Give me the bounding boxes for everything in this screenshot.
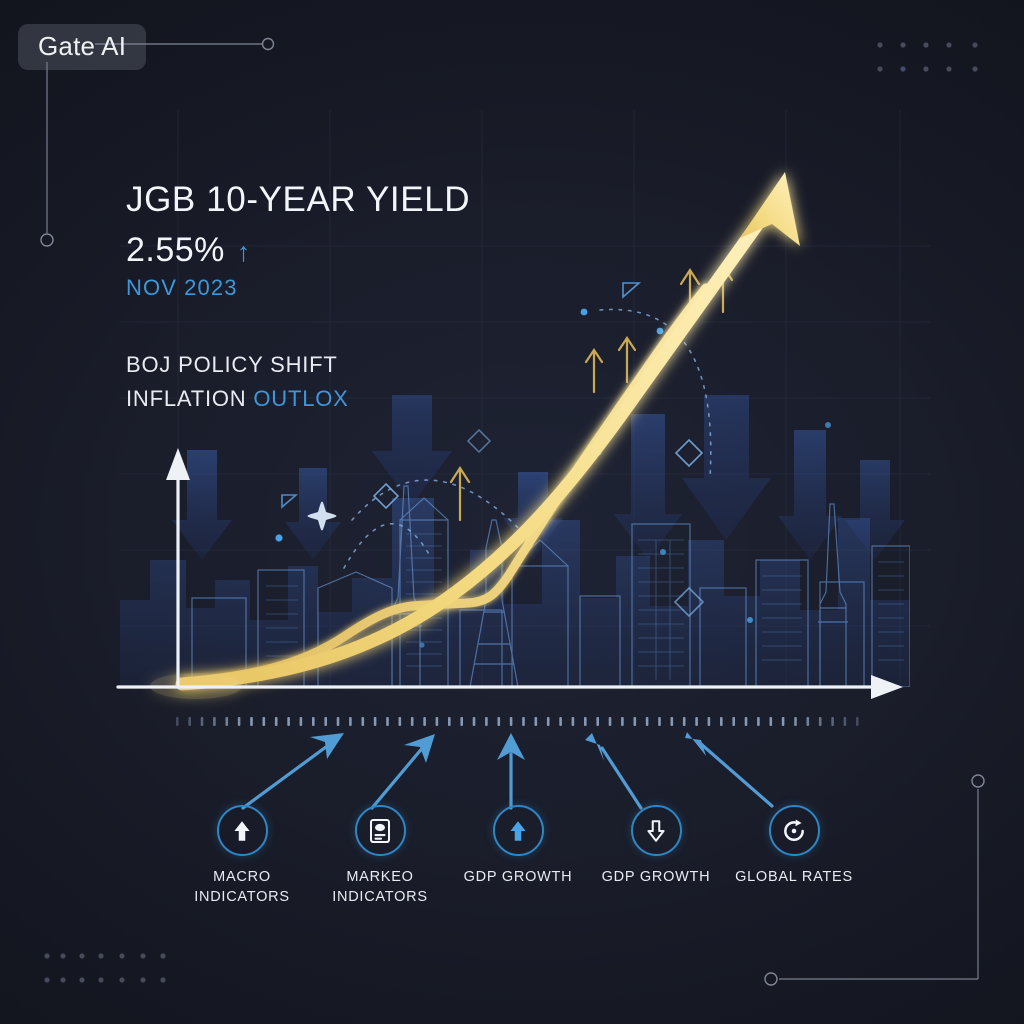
x-axis-tick: [460, 717, 463, 726]
legend-item-label-line2: INDICATORS: [332, 889, 428, 905]
legend-connector-5: [685, 732, 772, 806]
subheadline-line-2-highlight: OUTLOX: [253, 386, 348, 411]
x-axis-tick: [535, 717, 538, 726]
legend-item[interactable]: GDP GROWTH: [592, 805, 720, 888]
x-axis-tick: [362, 717, 365, 726]
x-axis-tick: [337, 717, 340, 726]
legend-item-label: GLOBAL RATES: [735, 868, 853, 888]
x-axis-tick: [572, 717, 575, 726]
x-axis-tick: [609, 717, 612, 726]
x-axis-tick: [671, 717, 674, 726]
x-axis-tick: [522, 717, 525, 726]
subheadline-block: BOJ POLICY SHIFT INFLATION OUTLOX: [126, 348, 349, 416]
x-axis-tick: [732, 717, 735, 726]
x-axis-tick: [473, 717, 476, 726]
report-document-icon[interactable]: [355, 805, 406, 856]
x-axis-tick: [844, 717, 847, 726]
legend-item-label: MARKEOINDICATORS: [332, 868, 428, 907]
x-axis-tick: [250, 717, 253, 726]
x-axis-tick: [324, 717, 327, 726]
x-axis-tick: [510, 717, 513, 726]
x-axis-tick: [423, 717, 426, 726]
x-axis-tick: [213, 717, 216, 726]
x-axis-tick: [176, 717, 179, 726]
legend-item[interactable]: GDP GROWTH: [454, 805, 582, 888]
page-title: JGB 10-YEAR YIELD: [126, 182, 470, 219]
legend-connector-arrows: [243, 732, 772, 808]
x-axis-tick: [634, 717, 637, 726]
x-axis-tick: [226, 717, 229, 726]
x-axis-tick: [770, 717, 773, 726]
legend-row: MACROINDICATORSMARKEOINDICATORSGDP GROWT…: [178, 805, 858, 907]
x-axis-tick: [782, 717, 785, 726]
x-axis-tick: [485, 717, 488, 726]
refresh-timer-icon[interactable]: [769, 805, 820, 856]
legend-item-label: GDP GROWTH: [464, 868, 573, 888]
x-axis-tick: [411, 717, 414, 726]
subheadline-line-2: INFLATION OUTLOX: [126, 382, 349, 416]
x-axis-tick-row: [176, 717, 859, 726]
legend-connector-4: [585, 733, 641, 808]
x-axis-tick: [300, 717, 303, 726]
x-axis-tick: [287, 717, 290, 726]
legend-item[interactable]: MARKEOINDICATORS: [316, 805, 444, 907]
x-axis-tick: [646, 717, 649, 726]
x-axis-tick: [695, 717, 698, 726]
x-axis-tick: [757, 717, 760, 726]
x-axis-tick: [831, 717, 834, 726]
x-axis-tick: [856, 717, 859, 726]
legend-item-label-line2: INDICATORS: [194, 889, 290, 905]
headline-block: JGB 10-YEAR YIELD 2.55% ↑ NOV 2023: [126, 182, 470, 299]
legend-connector-1: [243, 733, 344, 808]
x-axis-tick: [238, 717, 241, 726]
brand-badge: Gate AI: [18, 24, 146, 70]
legend-connector-2: [372, 734, 435, 808]
x-axis-tick: [745, 717, 748, 726]
period-label: NOV 2023: [126, 277, 470, 299]
x-axis-tick: [559, 717, 562, 726]
x-axis-tick: [498, 717, 501, 726]
infographic-canvas: Gate AI JGB 10-YEAR YIELD 2.55% ↑ NOV 20…: [0, 0, 1024, 1024]
x-axis-tick: [807, 717, 810, 726]
yield-value: 2.55%: [126, 233, 225, 267]
subheadline-line-2-main: INFLATION: [126, 386, 253, 411]
x-axis-tick: [349, 717, 352, 726]
legend-item-label: GDP GROWTH: [602, 868, 711, 888]
x-axis-tick: [621, 717, 624, 726]
legend-connector-3: [497, 733, 525, 808]
yield-value-row: 2.55% ↑: [126, 233, 470, 267]
x-axis-tick: [596, 717, 599, 726]
x-axis-tick: [708, 717, 711, 726]
legend-item[interactable]: MACROINDICATORS: [178, 805, 306, 907]
x-axis-tick: [584, 717, 587, 726]
x-axis-tick: [386, 717, 389, 726]
x-axis-tick: [547, 717, 550, 726]
legend-item[interactable]: GLOBAL RATES: [730, 805, 858, 888]
x-axis-tick: [720, 717, 723, 726]
arrow-up-filled-icon[interactable]: [217, 805, 268, 856]
x-axis-tick: [201, 717, 204, 726]
arrow-up-blue-icon[interactable]: [493, 805, 544, 856]
x-axis-tick: [263, 717, 266, 726]
subheadline-line-1: BOJ POLICY SHIFT: [126, 348, 349, 382]
x-axis-tick: [819, 717, 822, 726]
x-axis-tick: [448, 717, 451, 726]
arrow-up-icon: ↑: [237, 239, 251, 266]
legend-item-label: MACROINDICATORS: [194, 868, 290, 907]
x-axis-tick: [399, 717, 402, 726]
x-axis-tick: [374, 717, 377, 726]
x-axis-tick: [312, 717, 315, 726]
x-axis-tick: [188, 717, 191, 726]
x-axis-tick: [436, 717, 439, 726]
x-axis-tick: [794, 717, 797, 726]
x-axis-tick: [658, 717, 661, 726]
x-axis-tick: [275, 717, 278, 726]
x-axis-tick: [683, 717, 686, 726]
arrow-down-icon[interactable]: [631, 805, 682, 856]
